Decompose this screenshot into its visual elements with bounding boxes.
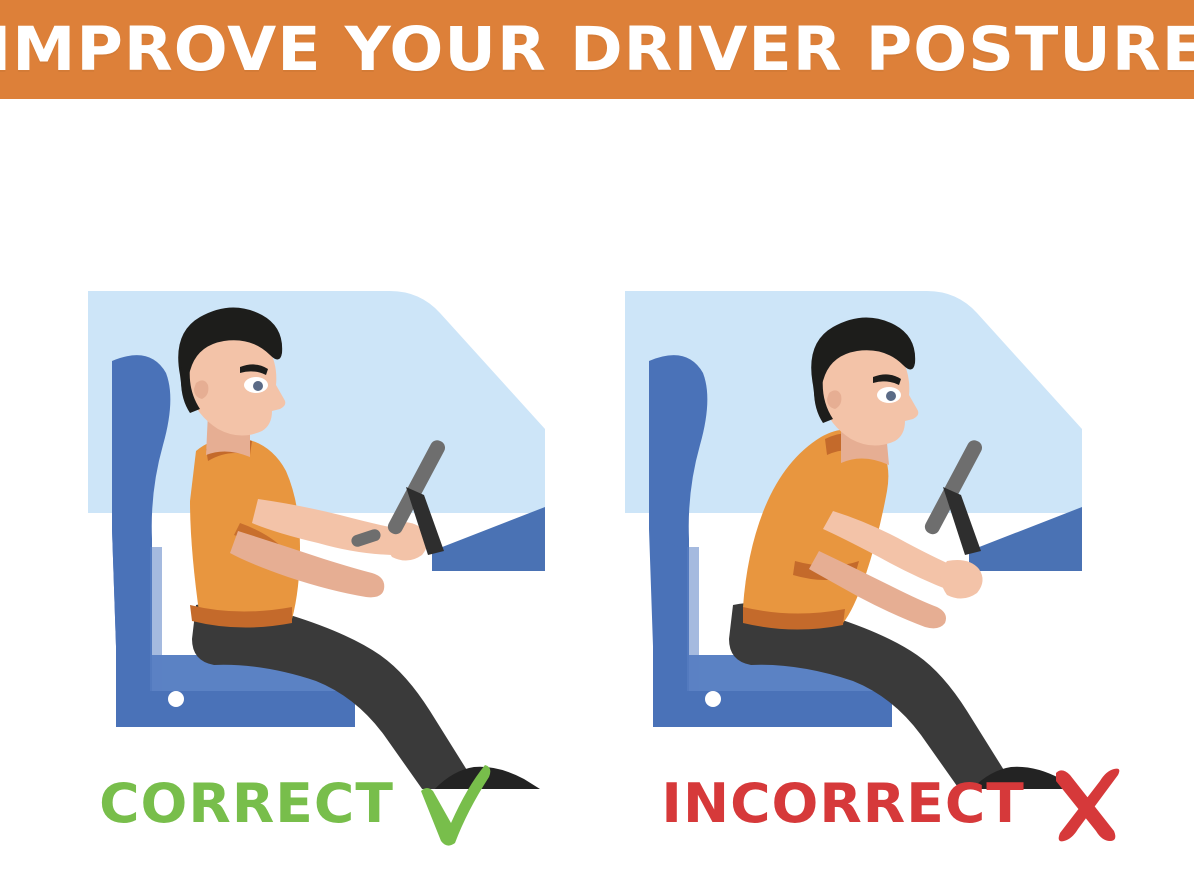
panel-correct: CORRECT (0, 99, 597, 879)
verdict-row-correct: CORRECT (0, 749, 597, 859)
dashboard (432, 507, 545, 571)
seat-adjust-knob (168, 691, 184, 707)
illustration-correct-posture (0, 99, 597, 789)
dashboard (969, 507, 1082, 571)
seat-adjust-knob (705, 691, 721, 707)
verdict-label-incorrect: INCORRECT (662, 777, 1025, 831)
checkmark-icon (417, 761, 495, 847)
illustration-incorrect-posture (597, 99, 1194, 789)
panel-incorrect: INCORRECT (597, 99, 1194, 879)
cross-icon (1048, 761, 1126, 847)
header-band: IMPROVE YOUR DRIVER POSTURE (0, 0, 1194, 99)
page-title: IMPROVE YOUR DRIVER POSTURE (0, 19, 1194, 80)
verdict-label-correct: CORRECT (99, 777, 394, 831)
verdict-row-incorrect: INCORRECT (597, 749, 1194, 859)
